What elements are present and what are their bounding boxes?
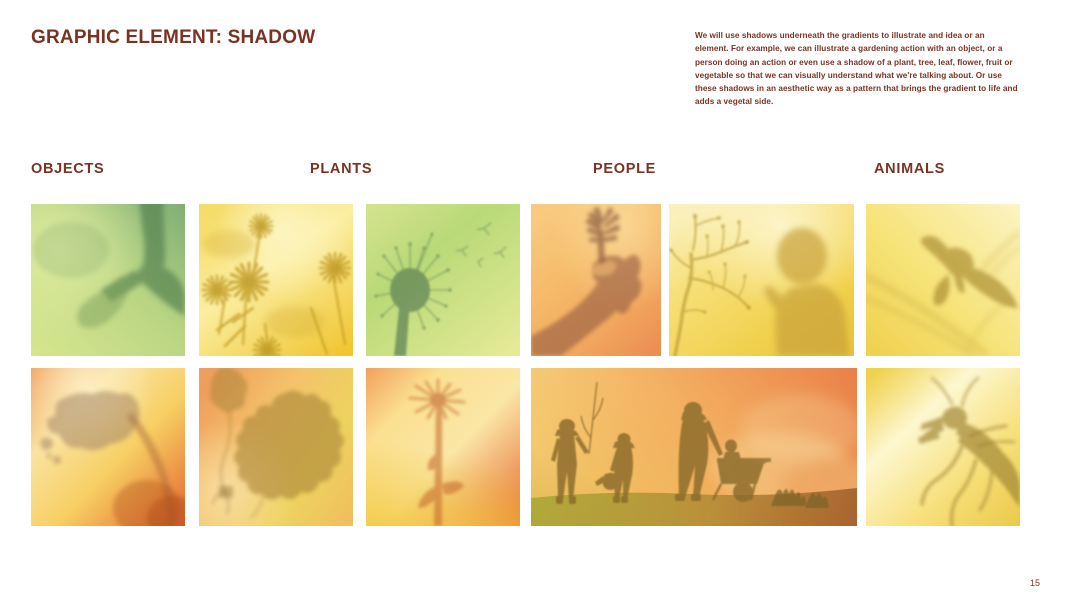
category-heading-plants: PLANTS [310,161,372,177]
page-number: 15 [1030,578,1040,588]
page-title: GRAPHIC ELEMENT: SHADOW [31,27,315,49]
image-tile-mantis [866,368,1020,526]
image-tile-bird [866,204,1020,356]
image-tile-dandelion [366,204,520,356]
category-heading-people: PEOPLE [593,161,656,177]
intro-paragraph-text: We will use shadows underneath the gradi… [695,29,1020,109]
intro-paragraph: We will use shadows underneath the gradi… [695,29,1020,109]
category-heading-objects: OBJECTS [31,161,104,177]
image-tile-leaf-abstract [31,368,185,526]
slide-canvas: GRAPHIC ELEMENT: SHADOW We will use shad… [0,0,1080,608]
category-heading-animals: ANIMALS [874,161,945,177]
image-tile-sprout [531,204,661,356]
image-tile-flower-stem [366,368,520,526]
image-tile-family-gardening [531,368,857,526]
image-tile-vine-leaf [199,368,353,526]
image-tile-daisies [199,204,353,356]
image-tile-trowel [31,204,185,356]
image-tile-person-branches [669,204,854,356]
